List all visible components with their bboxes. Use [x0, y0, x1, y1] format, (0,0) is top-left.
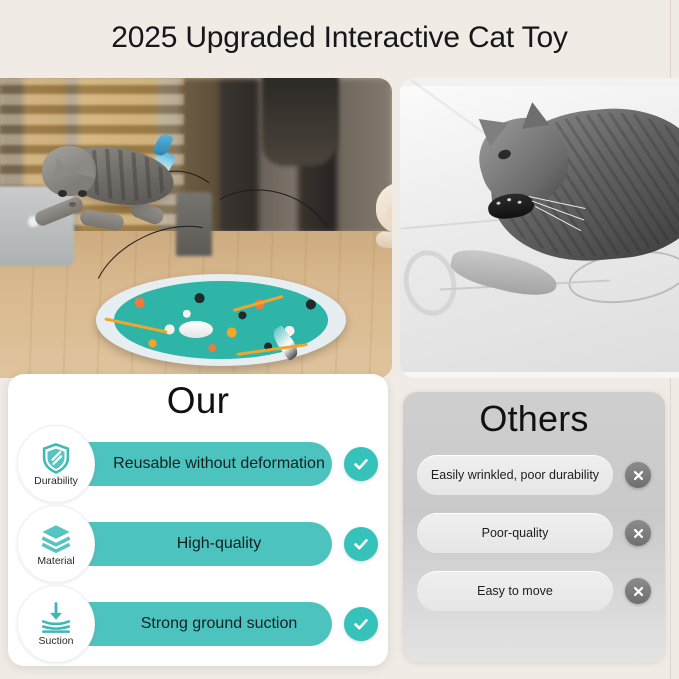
others-card-title: Others	[403, 392, 665, 440]
others-comparison-card: Others Easily wrinkled, poor durability …	[403, 392, 665, 662]
others-feature-list: Easily wrinkled, poor durability Poor-qu…	[403, 446, 665, 620]
alt-toy-highlight-3	[517, 201, 521, 205]
x-icon	[631, 584, 646, 599]
our-feature-pill: Reusable without deformation	[66, 442, 332, 486]
others-status-x	[625, 462, 651, 488]
others-status-x	[625, 520, 651, 546]
others-feature-row: Easy to move	[403, 562, 665, 620]
others-feature-row: Poor-quality	[403, 504, 665, 562]
our-badge-label: Material	[37, 556, 74, 567]
layers-icon	[39, 521, 73, 555]
check-icon	[351, 614, 371, 634]
our-comparison-card: Our Reusable without deformation Durabil…	[8, 374, 388, 666]
gray-cat-nose	[69, 202, 76, 207]
our-status-check	[344, 607, 378, 641]
gray-cat-head	[42, 146, 96, 196]
our-card-title: Our	[8, 374, 388, 422]
comparison-row: Our Reusable without deformation Durabil…	[0, 374, 679, 679]
page-title: 2025 Upgraded Interactive Cat Toy	[111, 21, 567, 55]
secondary-product-photo	[400, 78, 679, 378]
others-feature-pill: Easy to move	[417, 571, 613, 611]
our-feature-list: Reusable without deformation Durability	[8, 424, 388, 664]
hero-product-photo	[0, 78, 392, 378]
our-feature-badge-material: Material	[18, 506, 94, 582]
down-arrow-suction-icon	[39, 601, 73, 635]
our-status-check	[344, 527, 378, 561]
our-status-check	[344, 447, 378, 481]
our-feature-text: Strong ground suction	[101, 615, 298, 633]
check-icon	[351, 454, 371, 474]
our-feature-badge-durability: Durability	[18, 426, 94, 502]
others-feature-pill: Poor-quality	[417, 513, 613, 553]
our-feature-pill: High-quality	[66, 522, 332, 566]
photo-row	[0, 78, 679, 378]
our-feature-text: Reusable without deformation	[73, 455, 325, 473]
our-feature-row: Reusable without deformation Durability	[8, 424, 388, 504]
others-feature-pill: Easily wrinkled, poor durability	[417, 455, 613, 495]
others-feature-text: Easily wrinkled, poor durability	[431, 468, 599, 482]
our-feature-row: Strong ground suction Suction	[8, 584, 388, 664]
shield-icon	[39, 441, 73, 475]
gray-cat-ear-left	[48, 156, 72, 180]
check-icon	[351, 534, 371, 554]
our-feature-text: High-quality	[137, 535, 261, 553]
our-feature-pill: Strong ground suction	[66, 602, 332, 646]
hero-appliance	[0, 186, 74, 266]
x-icon	[631, 468, 646, 483]
our-badge-label: Suction	[38, 636, 73, 647]
cream-cat-ear-left	[379, 201, 392, 226]
our-feature-badge-suction: Suction	[18, 586, 94, 662]
others-feature-text: Easy to move	[477, 584, 553, 598]
others-feature-text: Poor-quality	[482, 526, 549, 540]
others-feature-row: Easily wrinkled, poor durability	[403, 446, 665, 504]
alt-cat-ear-right	[518, 100, 549, 129]
our-feature-row: High-quality Material	[8, 504, 388, 584]
others-status-x	[625, 578, 651, 604]
our-badge-label: Durability	[34, 476, 78, 487]
alt-toy-highlight-1	[496, 201, 500, 205]
hero-coat-rack	[262, 78, 338, 166]
page-header: 2025 Upgraded Interactive Cat Toy	[0, 0, 679, 76]
gray-cat-eye-left	[58, 190, 67, 197]
x-icon	[631, 526, 646, 541]
alt-toy-highlight-2	[507, 198, 511, 202]
gray-cat-eye-right	[78, 190, 87, 197]
